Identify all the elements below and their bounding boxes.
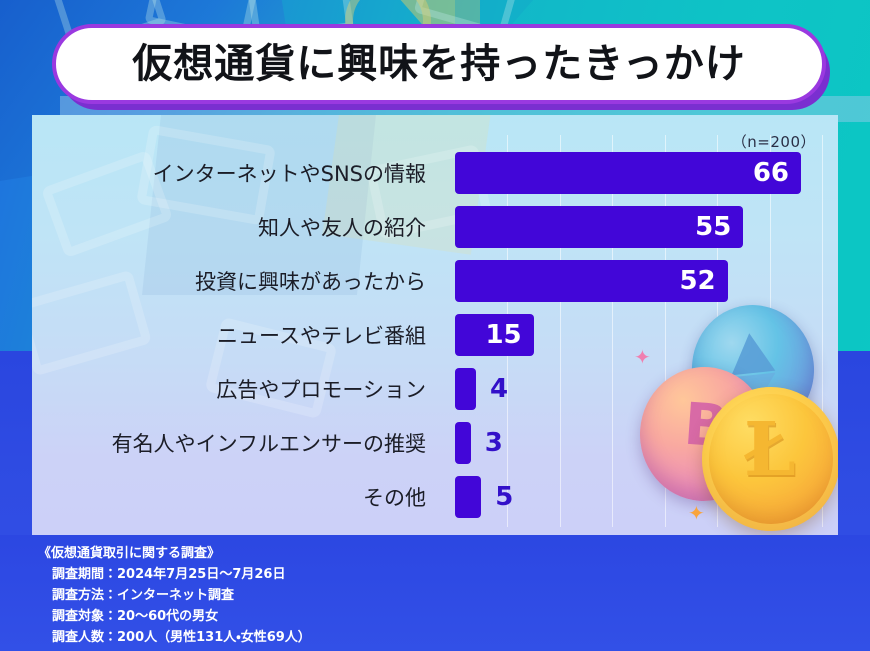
category-label: 投資に興味があったから <box>32 255 440 307</box>
chart-row: インターネットやSNSの情報66 <box>32 147 838 199</box>
chart-bar[interactable]: 55 <box>455 206 743 248</box>
bar-value-label: 55 <box>695 212 743 242</box>
sparkle-icon: ✦ <box>688 501 705 526</box>
category-label: 広告やプロモーション <box>32 363 440 415</box>
survey-details: 《仮想通貨取引に関する調査》調査期間：2024年7月25日〜7月26日調査方法：… <box>38 543 311 648</box>
bar-value-label: 15 <box>485 320 533 350</box>
footer-bar: 《仮想通貨取引に関する調査》調査期間：2024年7月25日〜7月26日調査方法：… <box>0 535 870 651</box>
bar-value-label: 5 <box>495 476 513 518</box>
chart-bar[interactable]: 15 <box>455 314 534 356</box>
coins-illustration: B Ł ✦ ✦ <box>640 305 838 535</box>
bar-track: 55 <box>455 201 838 253</box>
category-label: インターネットやSNSの情報 <box>32 147 440 199</box>
bar-track: 52 <box>455 255 838 307</box>
bar-value-label: 4 <box>490 368 508 410</box>
chart-bar[interactable] <box>455 476 481 518</box>
title-banner: 仮想通貨に興味を持ったきっかけ <box>52 24 822 100</box>
survey-line: 調査人数：200人（男性131人・女性69人） <box>38 627 311 648</box>
category-label: その他 <box>32 471 440 523</box>
survey-line: 調査方法：インターネット調査 <box>38 585 311 606</box>
category-label: 有名人やインフルエンサーの推奨 <box>32 417 440 469</box>
chart-bar[interactable]: 52 <box>455 260 728 302</box>
page-title: 仮想通貨に興味を持ったきっかけ <box>132 44 745 84</box>
chart-row: 投資に興味があったから52 <box>32 255 838 307</box>
sparkle-icon: ✦ <box>634 345 651 370</box>
chart-bar[interactable] <box>455 422 471 464</box>
bar-value-label: 3 <box>485 422 503 464</box>
survey-line: 調査期間：2024年7月25日〜7月26日 <box>38 564 311 585</box>
survey-line: 調査対象：20〜60代の男女 <box>38 606 311 627</box>
chart-row: 知人や友人の紹介55 <box>32 201 838 253</box>
litecoin-coin-icon: Ł <box>702 387 838 531</box>
litecoin-symbol: Ł <box>743 413 796 487</box>
bar-track: 66 <box>455 147 838 199</box>
bar-value-label: 66 <box>753 158 801 188</box>
chart-panel: （n=200） インターネットやSNSの情報66知人や友人の紹介55投資に興味が… <box>32 115 838 535</box>
title-pill: 仮想通貨に興味を持ったきっかけ <box>52 24 826 104</box>
bar-value-label: 52 <box>679 266 727 296</box>
survey-line: 《仮想通貨取引に関する調査》 <box>38 543 311 564</box>
category-label: ニュースやテレビ番組 <box>32 309 440 361</box>
chart-bar[interactable] <box>455 368 476 410</box>
chart-bar[interactable]: 66 <box>455 152 801 194</box>
slide-canvas: 仮想通貨に興味を持ったきっかけ （n=200） インターネットやSNSの情報66… <box>0 0 870 651</box>
category-label: 知人や友人の紹介 <box>32 201 440 253</box>
